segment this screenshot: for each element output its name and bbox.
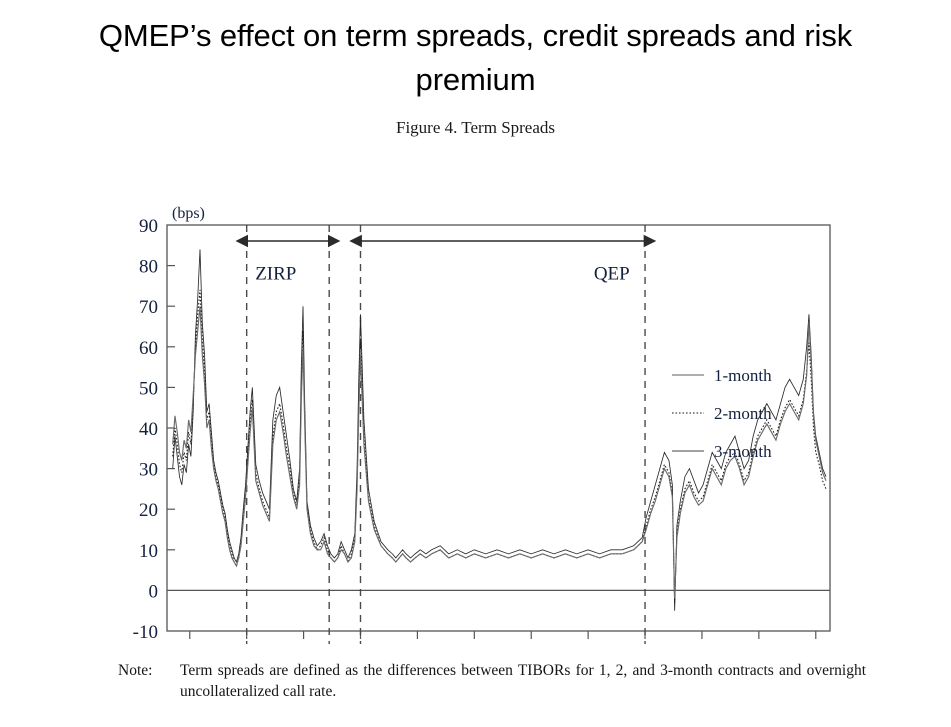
y-axis-unit-label: (bps): [172, 205, 205, 222]
y-tick-label: 20: [139, 500, 158, 521]
series-group: [173, 249, 826, 610]
y-tick-label: 30: [139, 460, 158, 481]
y-tick-label: 70: [139, 297, 158, 318]
x-axis-ticks: [190, 631, 816, 639]
note-label: Note:: [118, 660, 180, 681]
x-tick-label: 03: [465, 643, 484, 644]
figure-block: Figure 4. Term Spreads (bps): [0, 118, 951, 718]
y-tick-label: 60: [139, 338, 158, 359]
y-tick-label: 90: [139, 216, 158, 237]
x-axis-tick-labels: 1998992000010203040506070809: [171, 643, 826, 644]
y-axis-tick-labels: -100102030405060708090: [133, 216, 158, 643]
term-spreads-line-chart: (bps) -100102030405060708090 19989920000…: [0, 144, 951, 644]
period-label-ZIRP: ZIRP: [255, 264, 296, 285]
plot-frame: [167, 225, 830, 631]
legend-label-1-month: 1-month: [714, 366, 772, 385]
series-line-1-month: [173, 249, 826, 610]
figure-note: Note:Term spreads are defined as the dif…: [118, 660, 878, 702]
chart-area: (bps) -100102030405060708090 19989920000…: [0, 144, 951, 644]
x-tick-label: 08: [749, 643, 768, 644]
page-title: QMEP’s effect on term spreads, credit sp…: [60, 14, 891, 102]
y-tick-label: -10: [133, 622, 158, 643]
x-tick-label: 1998: [171, 643, 209, 644]
note-body: Term spreads are defined as the differen…: [180, 660, 866, 702]
x-tick-label: 02: [408, 643, 427, 644]
period-divider-lines: [247, 225, 645, 644]
slide-canvas: QMEP’s effect on term spreads, credit sp…: [0, 0, 951, 727]
period-label-QEP: QEP: [594, 264, 630, 285]
figure-caption: Figure 4. Term Spreads: [0, 118, 951, 138]
x-tick-label: 04: [522, 643, 542, 644]
x-tick-label: 2000: [285, 643, 323, 644]
y-tick-label: 10: [139, 541, 158, 562]
x-tick-label: 09: [806, 643, 825, 644]
x-tick-label: 07: [692, 643, 711, 644]
chart-legend: 1-month2-month3-month: [672, 366, 772, 461]
y-tick-label: 0: [149, 581, 159, 602]
y-tick-label: 40: [139, 419, 158, 440]
legend-label-3-month: 3-month: [714, 442, 772, 461]
y-axis-unit-text: (bps): [172, 205, 205, 222]
legend-label-2-month: 2-month: [714, 404, 772, 423]
y-tick-label: 80: [139, 257, 158, 278]
y-tick-label: 50: [139, 378, 158, 399]
period-annotations: ZIRPQEP: [247, 241, 645, 285]
y-axis-ticks: [167, 266, 175, 550]
x-tick-label: 05: [579, 643, 598, 644]
